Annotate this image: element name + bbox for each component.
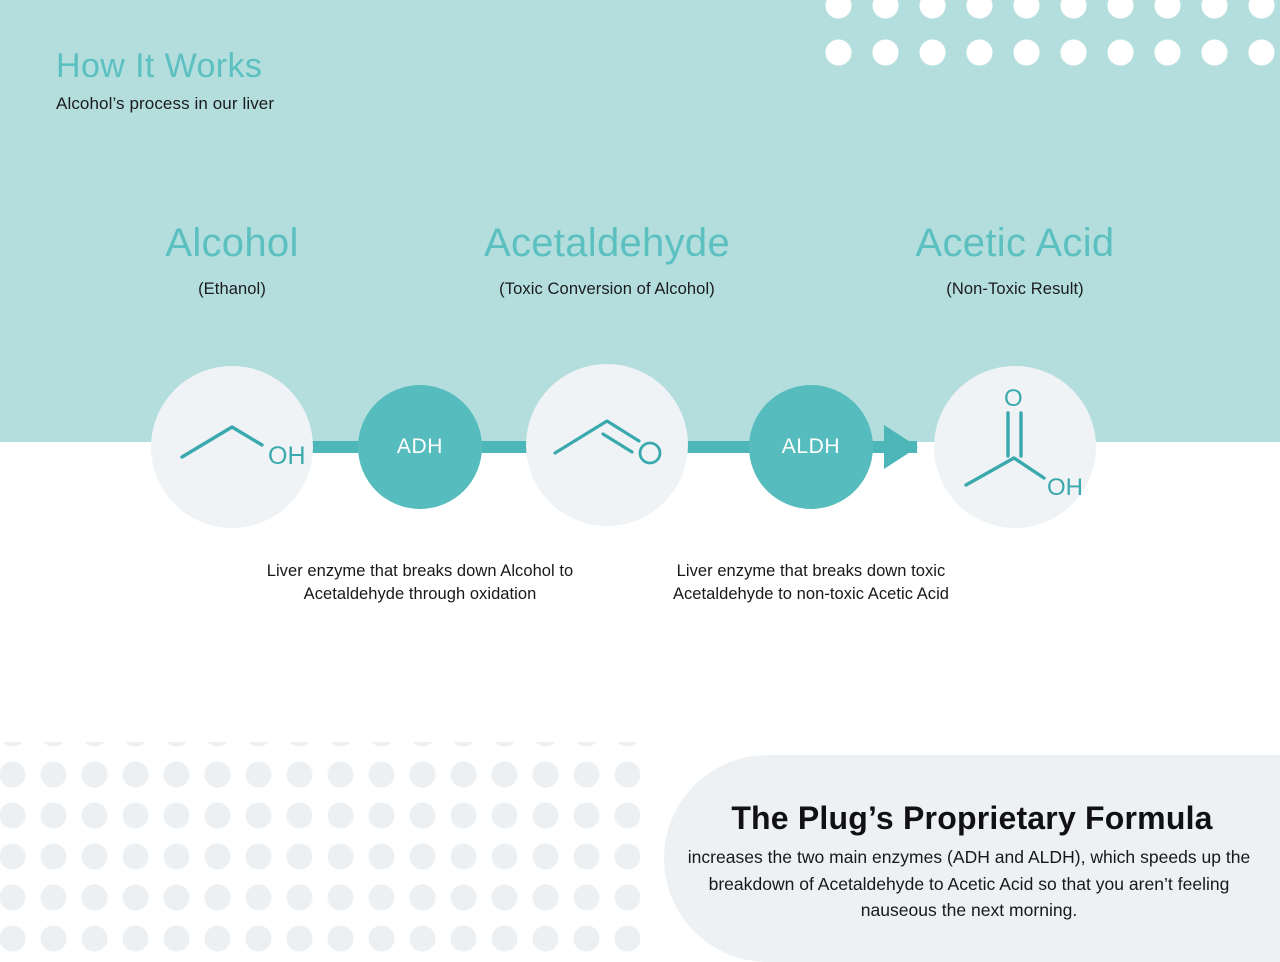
header: How It Works Alcohol’s process in our li… bbox=[56, 48, 274, 114]
arrow-right-icon bbox=[884, 425, 918, 469]
enzyme-caption-adh: Liver enzyme that breaks down Alcohol to… bbox=[255, 560, 585, 607]
enzyme-label-aldh: ALDH bbox=[782, 435, 840, 459]
molecule-acetaldehyde: O bbox=[526, 364, 688, 526]
acetic-acid-oh-label: OH bbox=[1047, 474, 1083, 501]
enzyme-caption-aldh: Liver enzyme that breaks down toxic Acet… bbox=[646, 560, 976, 607]
white-dot-pattern bbox=[815, 0, 1280, 86]
acetic-acid-o-label: O bbox=[1004, 385, 1023, 412]
molecule-ethanol: OH bbox=[151, 366, 313, 528]
stage-label-acetic-acid: Acetic Acid (Non-Toxic Result) bbox=[835, 222, 1195, 299]
stage-label-acetaldehyde: Acetaldehyde (Toxic Conversion of Alcoho… bbox=[427, 222, 787, 299]
acetic-acid-structure-icon: O OH bbox=[934, 366, 1096, 528]
stage-name-alcohol: Alcohol bbox=[52, 222, 412, 264]
formula-title: The Plug’s Proprietary Formula bbox=[664, 800, 1280, 837]
formula-body: increases the two main enzymes (ADH and … bbox=[674, 844, 1264, 924]
how-it-works-infographic: How It Works Alcohol’s process in our li… bbox=[0, 0, 1280, 962]
stage-name-acetaldehyde: Acetaldehyde bbox=[427, 222, 787, 264]
molecule-acetic-acid: O OH bbox=[934, 366, 1096, 528]
acetaldehyde-structure-icon: O bbox=[526, 364, 688, 526]
stage-label-alcohol: Alcohol (Ethanol) bbox=[52, 222, 412, 299]
gray-dot-pattern bbox=[0, 742, 640, 962]
enzyme-badge-adh[interactable]: ADH bbox=[358, 385, 482, 509]
enzyme-label-adh: ADH bbox=[397, 435, 443, 459]
ethanol-oh-label: OH bbox=[268, 442, 306, 470]
stage-subtitle-acetaldehyde: (Toxic Conversion of Alcohol) bbox=[427, 280, 787, 299]
page-subtitle: Alcohol’s process in our liver bbox=[56, 94, 274, 114]
stage-subtitle-alcohol: (Ethanol) bbox=[52, 280, 412, 299]
stage-subtitle-acetic-acid: (Non-Toxic Result) bbox=[835, 280, 1195, 299]
enzyme-badge-aldh[interactable]: ALDH bbox=[749, 385, 873, 509]
stage-name-acetic-acid: Acetic Acid bbox=[835, 222, 1195, 264]
ethanol-structure-icon: OH bbox=[151, 366, 313, 528]
page-title: How It Works bbox=[56, 48, 274, 85]
